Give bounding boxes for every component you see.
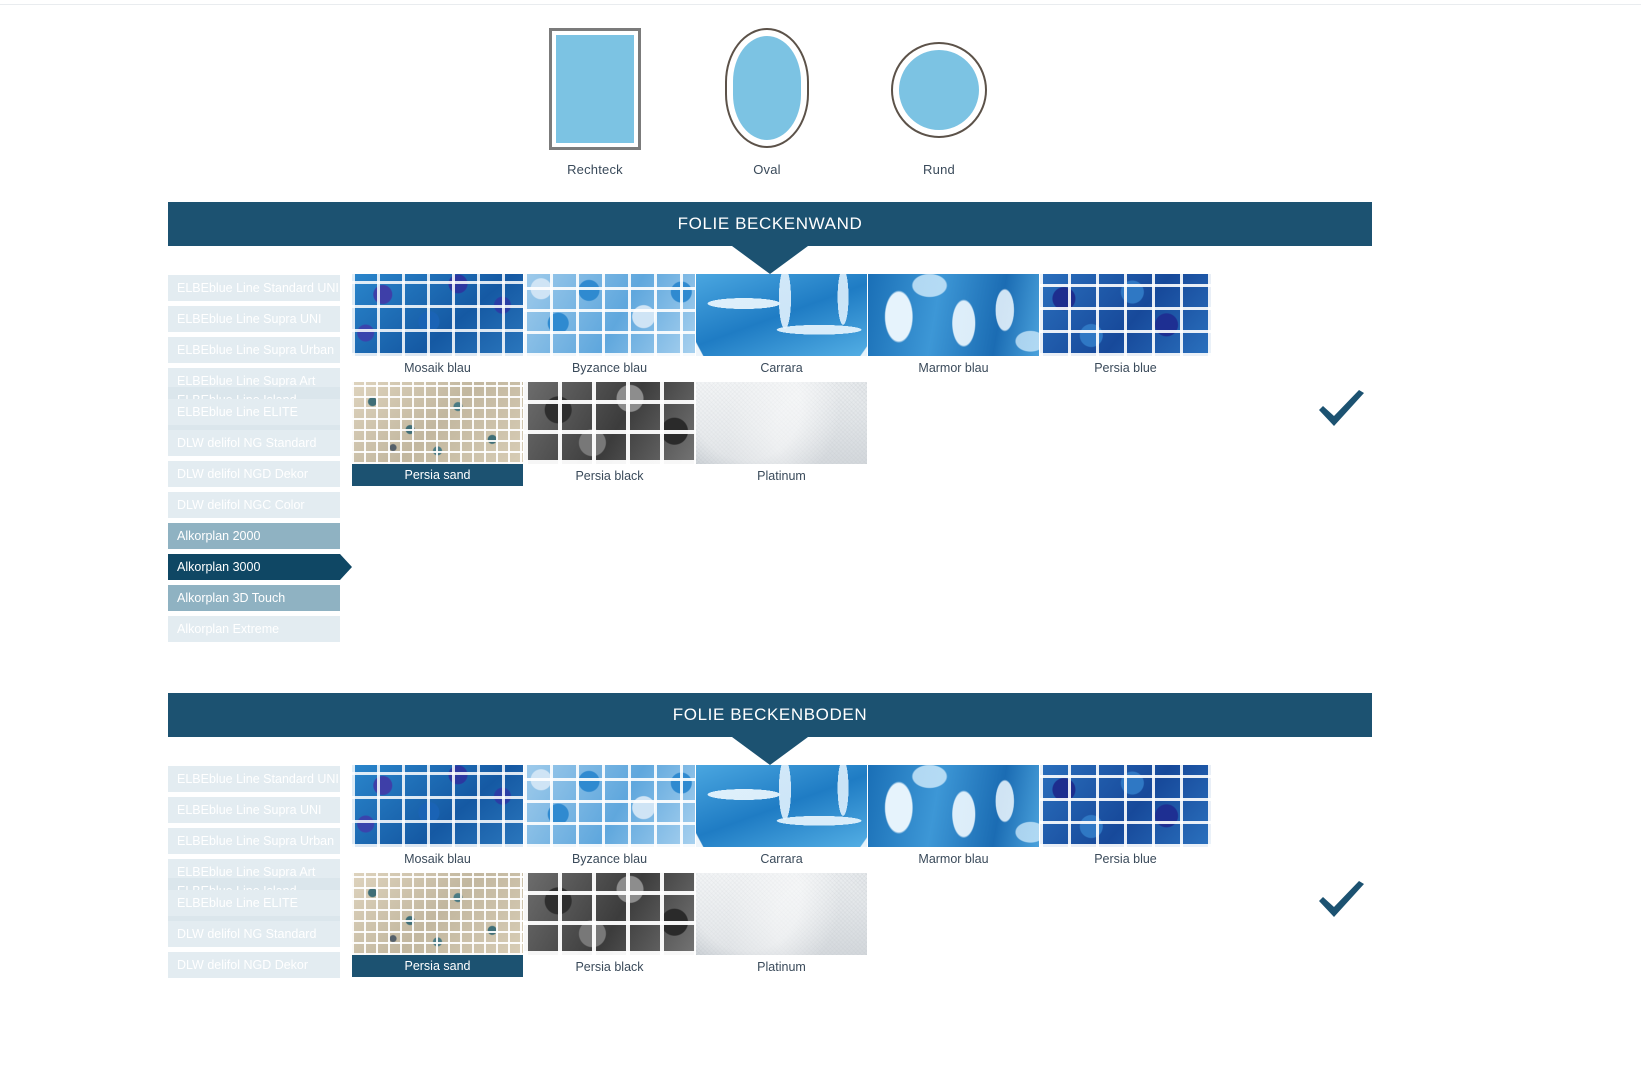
swatch-label: Marmor blau (868, 847, 1039, 867)
swatch-texture-image[interactable] (696, 873, 867, 955)
swatch-label: Persia sand (352, 955, 523, 977)
section-title: FOLIE BECKENBODEN (168, 705, 1372, 725)
swatch-platinum[interactable]: Platinum (696, 873, 867, 975)
swatch-texture-image[interactable] (1040, 274, 1211, 356)
swatch-texture-image[interactable] (524, 765, 695, 847)
sidebar-item-alkorplan-3d-touch[interactable]: Alkorplan 3D Touch (168, 585, 340, 611)
section-header: FOLIE BECKENWAND (0, 202, 1641, 250)
sidebar-item-elbeblue-line-supra-urban[interactable]: ELBEblue Line Supra Urban (168, 828, 340, 854)
pool-round-icon[interactable] (864, 18, 1014, 158)
swatch-label: Carrara (696, 847, 867, 867)
swatch-label: Persia blue (1040, 847, 1211, 867)
pool-shape-label: Oval (692, 162, 842, 177)
swatch-label: Byzance blau (524, 356, 695, 376)
pool-shape-option-oval[interactable]: Oval (692, 18, 842, 177)
swatch-label: Persia black (524, 955, 695, 975)
swatch-carrara[interactable]: Carrara (696, 274, 867, 376)
swatch-label: Byzance blau (524, 847, 695, 867)
pool-configurator-page: Rechteck Oval Rund FOLIE BECKENWANDELBEb… (0, 0, 1641, 1074)
swatch-persia-sand[interactable]: Persia sand (352, 382, 523, 486)
sidebar-item-label: Alkorplan 3D Touch (177, 591, 285, 605)
sidebar-item-elbeblue-line-elite[interactable]: ELBEblue Line ELITE (168, 399, 340, 425)
swatch-texture-image[interactable] (868, 765, 1039, 847)
section-folie-beckenboden: FOLIE BECKENBODENELBEblue Line Standard … (0, 693, 1641, 741)
sidebar-item-label: DLW delifol NG Standard (177, 436, 316, 450)
sidebar-item-label: ELBEblue Line ELITE (177, 405, 298, 419)
section-header-bar[interactable]: FOLIE BECKENBODEN (168, 693, 1372, 737)
sidebar-item-label: DLW delifol NG Standard (177, 927, 316, 941)
pool-shape-option-rund[interactable]: Rund (864, 18, 1014, 177)
pool-oval-icon[interactable] (692, 18, 842, 158)
sidebar-item-alkorplan-2000[interactable]: Alkorplan 2000 (168, 523, 340, 549)
swatch-label: Persia blue (1040, 356, 1211, 376)
pool-shape-label: Rund (864, 162, 1014, 177)
sidebar-item-elbeblue-line-standard-uni[interactable]: ELBEblue Line Standard UNI (168, 275, 340, 301)
swatch-texture-image[interactable] (696, 274, 867, 356)
sidebar-item-label: ELBEblue Line Supra UNI (177, 312, 322, 326)
swatch-label: Mosaik blau (352, 847, 523, 867)
sidebar-item-alkorplan-extreme[interactable]: Alkorplan Extreme (168, 616, 340, 642)
swatch-texture-image[interactable] (352, 274, 523, 356)
swatch-carrara[interactable]: Carrara (696, 765, 867, 867)
sidebar-item-label: ELBEblue Line Supra Urban (177, 834, 334, 848)
top-divider (0, 4, 1641, 5)
sidebar-item-dlw-delifol-ngd-dekor[interactable]: DLW delifol NGD Dekor (168, 952, 340, 978)
swatch-label: Mosaik blau (352, 356, 523, 376)
sidebar-item-dlw-delifol-ng-standard[interactable]: DLW delifol NG Standard (168, 921, 340, 947)
check-icon[interactable] (1310, 388, 1374, 440)
collection-sidebar: ELBEblue Line Standard UNIELBEblue Line … (168, 275, 340, 647)
sidebar-item-label: Alkorplan 2000 (177, 529, 260, 543)
sidebar-item-label: ELBEblue Line Standard UNI (177, 281, 339, 295)
swatch-label: Platinum (696, 955, 867, 975)
swatch-byzance-blau[interactable]: Byzance blau (524, 765, 695, 867)
sidebar-item-alkorplan-3000[interactable]: Alkorplan 3000 (168, 554, 340, 580)
swatch-texture-image[interactable] (524, 274, 695, 356)
swatch-texture-image[interactable] (696, 382, 867, 464)
swatch-texture-image[interactable] (524, 382, 695, 464)
pool-shape-option-rechteck[interactable]: Rechteck (520, 18, 670, 177)
sidebar-item-label: DLW delifol NGC Color (177, 498, 305, 512)
swatch-texture-image[interactable] (524, 873, 695, 955)
swatch-texture-image[interactable] (352, 873, 523, 955)
sidebar-item-label: Alkorplan Extreme (177, 622, 279, 636)
sidebar-item-label: ELBEblue Line Supra Art (177, 374, 315, 388)
swatch-persia-blue[interactable]: Persia blue (1040, 765, 1211, 867)
swatch-texture-image[interactable] (352, 382, 523, 464)
swatch-persia-black[interactable]: Persia black (524, 873, 695, 975)
section-header: FOLIE BECKENBODEN (0, 693, 1641, 741)
swatch-label: Persia sand (352, 464, 523, 486)
sidebar-item-label: DLW delifol NGD Dekor (177, 958, 308, 972)
swatch-mosaik-blau[interactable]: Mosaik blau (352, 274, 523, 376)
sidebar-item-label: ELBEblue Line Supra UNI (177, 803, 322, 817)
section-header-bar[interactable]: FOLIE BECKENWAND (168, 202, 1372, 246)
swatch-marmor-blau[interactable]: Marmor blau (868, 765, 1039, 867)
swatch-mosaik-blau[interactable]: Mosaik blau (352, 765, 523, 867)
swatch-label: Marmor blau (868, 356, 1039, 376)
collection-sidebar: ELBEblue Line Standard UNIELBEblue Line … (168, 766, 340, 983)
section-folie-beckenwand: FOLIE BECKENWANDELBEblue Line Standard U… (0, 202, 1641, 250)
swatch-platinum[interactable]: Platinum (696, 382, 867, 484)
sidebar-item-elbeblue-line-elite[interactable]: ELBEblue Line ELITE (168, 890, 340, 916)
sidebar-item-elbeblue-line-standard-uni[interactable]: ELBEblue Line Standard UNI (168, 766, 340, 792)
sidebar-item-dlw-delifol-ngd-dekor[interactable]: DLW delifol NGD Dekor (168, 461, 340, 487)
sidebar-item-dlw-delifol-ngc-color[interactable]: DLW delifol NGC Color (168, 492, 340, 518)
swatch-persia-blue[interactable]: Persia blue (1040, 274, 1211, 376)
pool-rectangle-icon[interactable] (520, 18, 670, 158)
swatch-label: Platinum (696, 464, 867, 484)
section-pointer (732, 246, 808, 274)
section-title: FOLIE BECKENWAND (168, 214, 1372, 234)
pool-shape-selector: Rechteck Oval Rund (520, 18, 1040, 198)
sidebar-item-label: Alkorplan 3000 (177, 560, 260, 574)
swatch-label: Persia black (524, 464, 695, 484)
swatch-persia-black[interactable]: Persia black (524, 382, 695, 484)
sidebar-item-elbeblue-line-supra-uni[interactable]: ELBEblue Line Supra UNI (168, 306, 340, 332)
swatch-texture-image[interactable] (868, 274, 1039, 356)
swatch-persia-sand[interactable]: Persia sand (352, 873, 523, 977)
section-pointer (732, 737, 808, 765)
check-icon[interactable] (1310, 879, 1374, 931)
sidebar-item-label: DLW delifol NGD Dekor (177, 467, 308, 481)
sidebar-item-dlw-delifol-ng-standard[interactable]: DLW delifol NG Standard (168, 430, 340, 456)
swatch-texture-image[interactable] (1040, 765, 1211, 847)
pool-shape-label: Rechteck (520, 162, 670, 177)
sidebar-item-elbeblue-line-supra-urban[interactable]: ELBEblue Line Supra Urban (168, 337, 340, 363)
swatch-texture-image[interactable] (696, 765, 867, 847)
sidebar-item-label: ELBEblue Line Supra Urban (177, 343, 334, 357)
sidebar-item-label: ELBEblue Line ELITE (177, 896, 298, 910)
sidebar-item-elbeblue-line-supra-uni[interactable]: ELBEblue Line Supra UNI (168, 797, 340, 823)
swatch-texture-image[interactable] (352, 765, 523, 847)
swatch-label: Carrara (696, 356, 867, 376)
sidebar-item-label: ELBEblue Line Supra Art (177, 865, 315, 879)
sidebar-item-label: ELBEblue Line Standard UNI (177, 772, 339, 786)
swatch-byzance-blau[interactable]: Byzance blau (524, 274, 695, 376)
swatch-marmor-blau[interactable]: Marmor blau (868, 274, 1039, 376)
